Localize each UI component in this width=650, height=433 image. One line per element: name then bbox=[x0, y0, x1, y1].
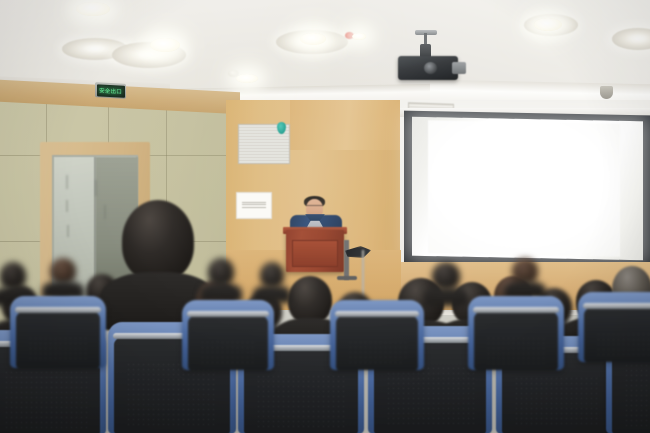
audience-member-head bbox=[288, 276, 332, 324]
glass-reflection bbox=[95, 180, 97, 196]
seat-back-panel bbox=[188, 316, 268, 370]
seat-back-panel bbox=[584, 308, 650, 362]
wood-wall-upper bbox=[290, 100, 406, 150]
notice-text-line bbox=[242, 202, 266, 203]
seat-perforation bbox=[348, 340, 406, 364]
notice-text-line bbox=[242, 204, 266, 205]
glass-reflection bbox=[66, 175, 68, 189]
presenter-glasses-icon bbox=[306, 205, 323, 208]
downlight-3-icon bbox=[300, 33, 326, 45]
seat-back-panel bbox=[474, 312, 558, 370]
projection-screen-image bbox=[428, 120, 620, 257]
audience-member-head bbox=[0, 262, 26, 290]
wall-notice bbox=[236, 192, 272, 219]
projector-side-vent bbox=[452, 62, 466, 74]
lecture-hall-photo: 安全出口 bbox=[0, 0, 650, 433]
seat-back-panel bbox=[336, 316, 418, 370]
auditorium-seat bbox=[10, 296, 106, 368]
seat-perforation bbox=[624, 358, 650, 428]
downlight-1-icon bbox=[76, 2, 110, 16]
glass-reflection bbox=[66, 200, 68, 212]
auditorium-seat bbox=[468, 296, 564, 370]
seat-perforation bbox=[514, 376, 598, 428]
seat-perforation bbox=[200, 340, 256, 364]
seat-grab-bar bbox=[187, 311, 269, 317]
auditorium-seat bbox=[182, 300, 274, 370]
alarm-strobe-icon bbox=[352, 33, 366, 40]
seat-back-panel bbox=[16, 312, 100, 368]
downlight-2-icon bbox=[150, 38, 180, 52]
ceiling-projector bbox=[398, 56, 458, 80]
camera-tripod-pole bbox=[362, 250, 364, 300]
auditorium-seat bbox=[330, 300, 424, 370]
emergency-exit-sign: 安全出口 bbox=[95, 82, 126, 99]
notice-text-line bbox=[242, 207, 266, 208]
ceiling-speaker-icon bbox=[600, 86, 613, 99]
seat-grab-bar bbox=[473, 307, 559, 313]
exit-sign-label: 安全出口 bbox=[99, 86, 122, 95]
audience-member-head bbox=[432, 262, 460, 290]
downlight-5-icon bbox=[236, 74, 258, 83]
seat-perforation bbox=[256, 374, 346, 428]
glass-reflection bbox=[104, 205, 106, 219]
auditorium-seat bbox=[578, 292, 650, 362]
audience-member-head bbox=[122, 200, 194, 282]
downlight-4-icon bbox=[534, 18, 562, 31]
projector-lens-icon bbox=[424, 62, 437, 74]
seat-perforation bbox=[596, 332, 650, 356]
seat-grab-bar bbox=[583, 303, 650, 309]
seat-perforation bbox=[486, 336, 546, 364]
mic-stand bbox=[344, 240, 349, 280]
seat-grab-bar bbox=[335, 311, 419, 317]
seat-perforation bbox=[126, 362, 218, 428]
seat-perforation bbox=[28, 336, 88, 362]
mic-stand-base bbox=[337, 276, 357, 280]
lectern-front-panel bbox=[292, 240, 338, 267]
notice-title bbox=[239, 196, 269, 200]
glass-reflection bbox=[67, 225, 69, 237]
exit-sign-face: 安全出口 bbox=[97, 84, 125, 97]
seat-perforation bbox=[386, 366, 474, 428]
audience-member-shoulders bbox=[424, 287, 469, 307]
seat-perforation bbox=[4, 370, 88, 429]
audience-member-head bbox=[208, 258, 234, 286]
seat-grab-bar bbox=[15, 307, 101, 313]
